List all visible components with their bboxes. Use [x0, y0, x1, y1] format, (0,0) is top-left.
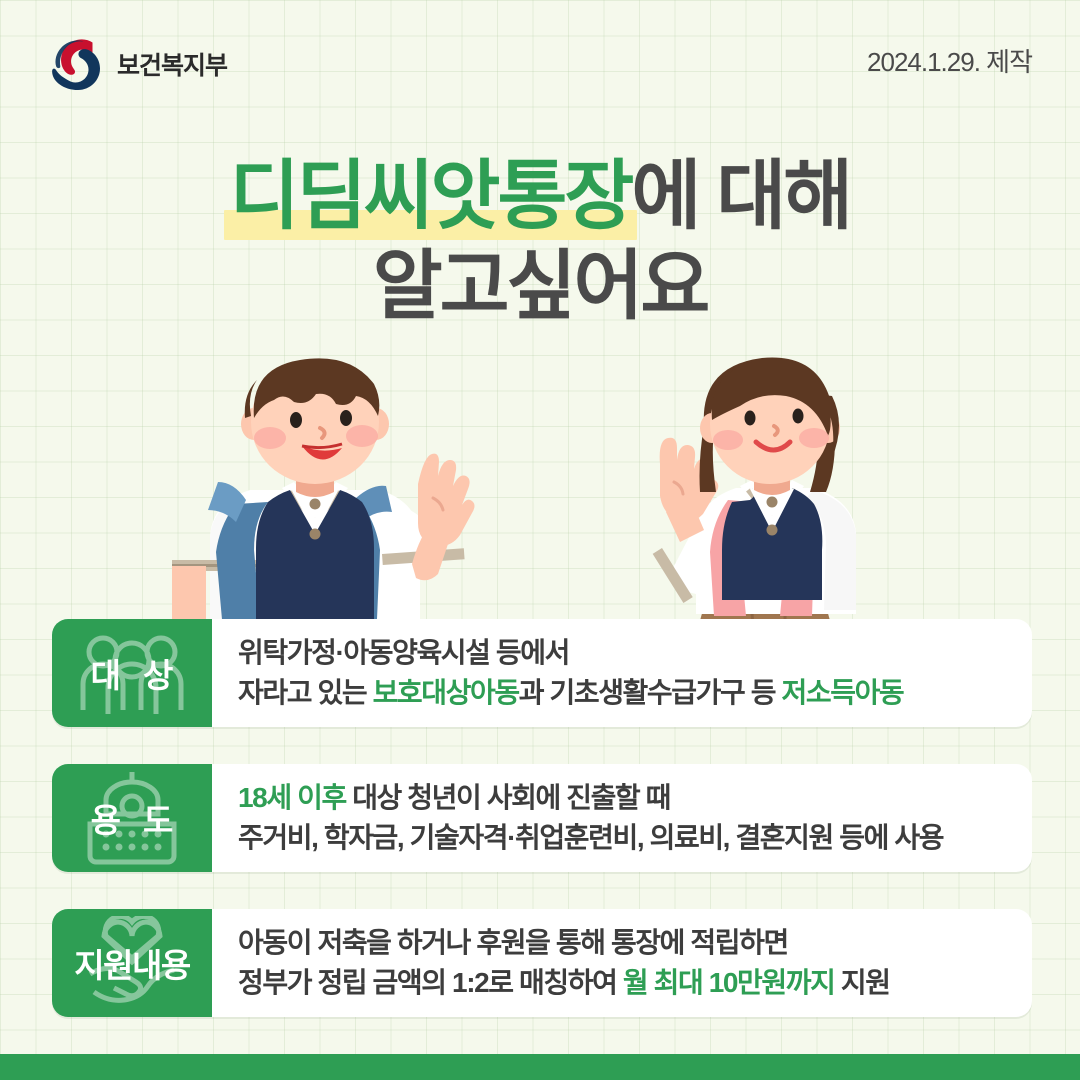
students-illustration	[0, 352, 1080, 642]
info-card-usage: 용도 18세 이후 대상 청년이 사회에 진출할 때 주거비, 학자금, 기술자…	[52, 764, 1032, 872]
card-label-usage: 용도	[52, 764, 212, 872]
card-label-support: 지원내용	[52, 909, 212, 1017]
footer-accent-bar	[0, 1054, 1080, 1080]
card-line-2: 주거비, 학자금, 기술자격·취업훈련비, 의료비, 결혼지원 등에 사용	[238, 818, 1032, 858]
card-line-1: 아동이 저축을 하거나 후원을 통해 통장에 적립하면	[238, 923, 1032, 963]
ministry-brand: 보건복지부	[52, 34, 227, 94]
card-line-1: 위탁가정·아동양육시설 등에서	[238, 633, 1032, 673]
info-card-target: 대상 위탁가정·아동양육시설 등에서 자라고 있는 보호대상아동과 기초생활수급…	[52, 619, 1032, 727]
info-cards: 대상 위탁가정·아동양육시설 등에서 자라고 있는 보호대상아동과 기초생활수급…	[52, 619, 1032, 1017]
infographic-poster: 보건복지부 2024.1.29. 제작 디딤씨앗통장에 대해 알고싶어요	[0, 0, 1080, 1080]
page-title: 디딤씨앗통장에 대해 알고싶어요	[0, 152, 1080, 331]
production-date: 2024.1.29. 제작	[867, 42, 1032, 79]
ministry-name: 보건복지부	[117, 46, 227, 82]
card-label-target: 대상	[52, 619, 212, 727]
card-label-text: 용도	[69, 794, 196, 842]
card-line-2: 자라고 있는 보호대상아동과 기초생활수급가구 등 저소득아동	[238, 673, 1032, 713]
title-line-1: 디딤씨앗통장에 대해	[0, 152, 1080, 242]
card-body-usage: 18세 이후 대상 청년이 사회에 진출할 때 주거비, 학자금, 기술자격·취…	[212, 764, 1032, 872]
card-label-text: 지원내용	[74, 939, 189, 987]
boy-student-illustration	[150, 352, 480, 642]
girl-student-illustration	[600, 352, 930, 642]
korea-government-taegeuk-logo-icon	[52, 36, 104, 92]
card-label-text: 대상	[69, 649, 196, 697]
header: 보건복지부 2024.1.29. 제작	[0, 34, 1080, 94]
title-line-1-rest: 에 대해	[631, 154, 850, 239]
card-body-target: 위탁가정·아동양육시설 등에서 자라고 있는 보호대상아동과 기초생활수급가구 …	[212, 619, 1032, 727]
card-line-1: 18세 이후 대상 청년이 사회에 진출할 때	[238, 778, 1032, 818]
title-line-2: 알고싶어요	[0, 242, 1080, 332]
card-line-2: 정부가 정립 금액의 1:2로 매칭하여 월 최대 10만원까지 지원	[238, 963, 1032, 1003]
info-card-support: 지원내용 아동이 저축을 하거나 후원을 통해 통장에 적립하면 정부가 정립 …	[52, 909, 1032, 1017]
title-highlight-term: 디딤씨앗통장	[230, 152, 632, 242]
card-body-support: 아동이 저축을 하거나 후원을 통해 통장에 적립하면 정부가 정립 금액의 1…	[212, 909, 1032, 1017]
